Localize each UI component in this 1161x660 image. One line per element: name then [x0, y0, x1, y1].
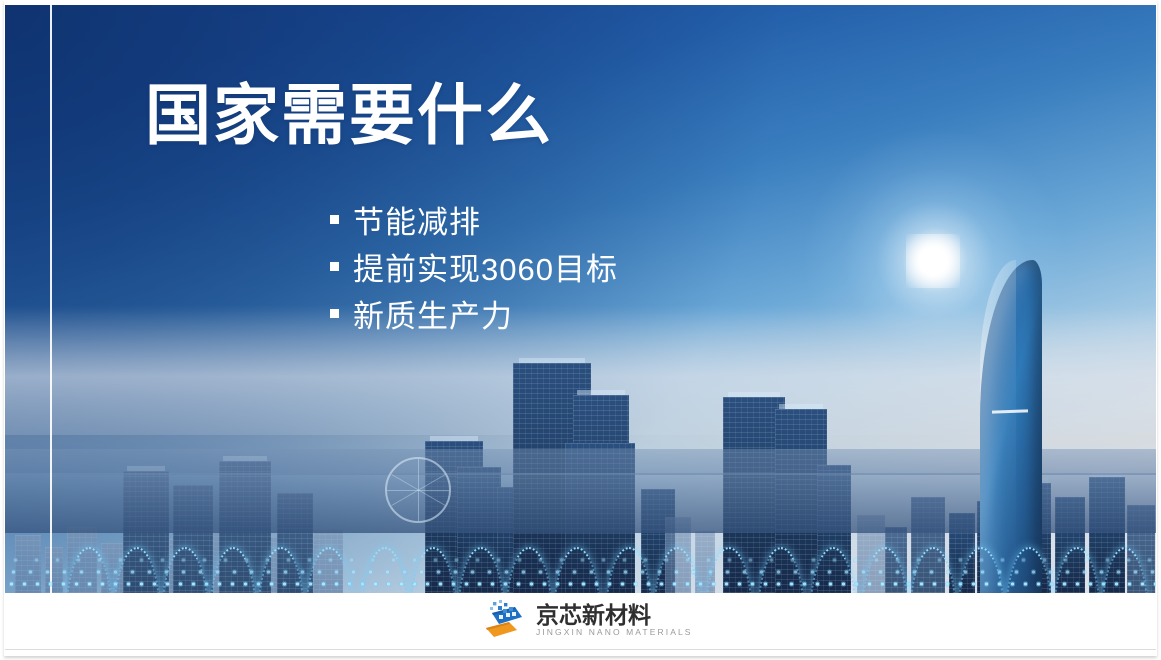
ferris-spoke [387, 490, 449, 491]
dot-arc [909, 547, 957, 593]
dot-arc [757, 547, 805, 593]
square-bullet-icon [330, 215, 339, 224]
dot-arc [605, 547, 653, 593]
dot-arc [361, 547, 409, 593]
footer-divider [5, 649, 1156, 650]
bullet-item-1: 节能减排 [330, 196, 618, 243]
dot-arc [457, 547, 505, 593]
logo-name-en: JINGXIN NANO MATERIALS [536, 628, 693, 637]
bullet-label: 新质生产力 [353, 291, 513, 336]
slide-footer: 京芯新材料 JINGXIN NANO MATERIALS [5, 593, 1156, 655]
dot-arc [553, 547, 601, 593]
dot-arc [305, 547, 353, 593]
slide-title: 国家需要什么 [145, 82, 553, 148]
bullet-item-3: 新质生产力 [330, 290, 618, 337]
bullet-item-2: 提前实现3060目标 [330, 243, 618, 290]
dot-arc [705, 547, 753, 593]
pixel-parallelogram-logo-icon [479, 600, 527, 640]
square-bullet-icon [330, 262, 339, 271]
dot-arc [809, 547, 857, 593]
dot-arc [957, 547, 1005, 593]
bullet-label: 节能减排 [353, 197, 481, 242]
dot-arc [505, 547, 553, 593]
dot-arc [1053, 547, 1101, 593]
slide-bullet-list: 节能减排 提前实现3060目标 新质生产力 [330, 196, 618, 337]
dot-arc [861, 547, 909, 593]
dot-arc [113, 547, 161, 593]
dot-arc [65, 547, 113, 593]
dot-arc [161, 547, 209, 593]
dot-arc [409, 547, 457, 593]
dot-arc [209, 547, 257, 593]
presentation-slide: 国家需要什么 节能减排 提前实现3060目标 新质生产力 [0, 0, 1161, 660]
logo-wordmark: 京芯新材料 JINGXIN NANO MATERIALS [536, 603, 693, 637]
dot-arc [1101, 547, 1149, 593]
logo-name-cn: 京芯新材料 [536, 603, 693, 627]
dot-arc [1005, 547, 1053, 593]
glowing-dot-network [5, 497, 1156, 593]
company-logo: 京芯新材料 JINGXIN NANO MATERIALS [479, 598, 693, 642]
dot-arc [257, 547, 305, 593]
bullet-label: 提前实现3060目标 [353, 244, 618, 289]
square-bullet-icon [330, 309, 339, 318]
dot-arc [653, 547, 701, 593]
